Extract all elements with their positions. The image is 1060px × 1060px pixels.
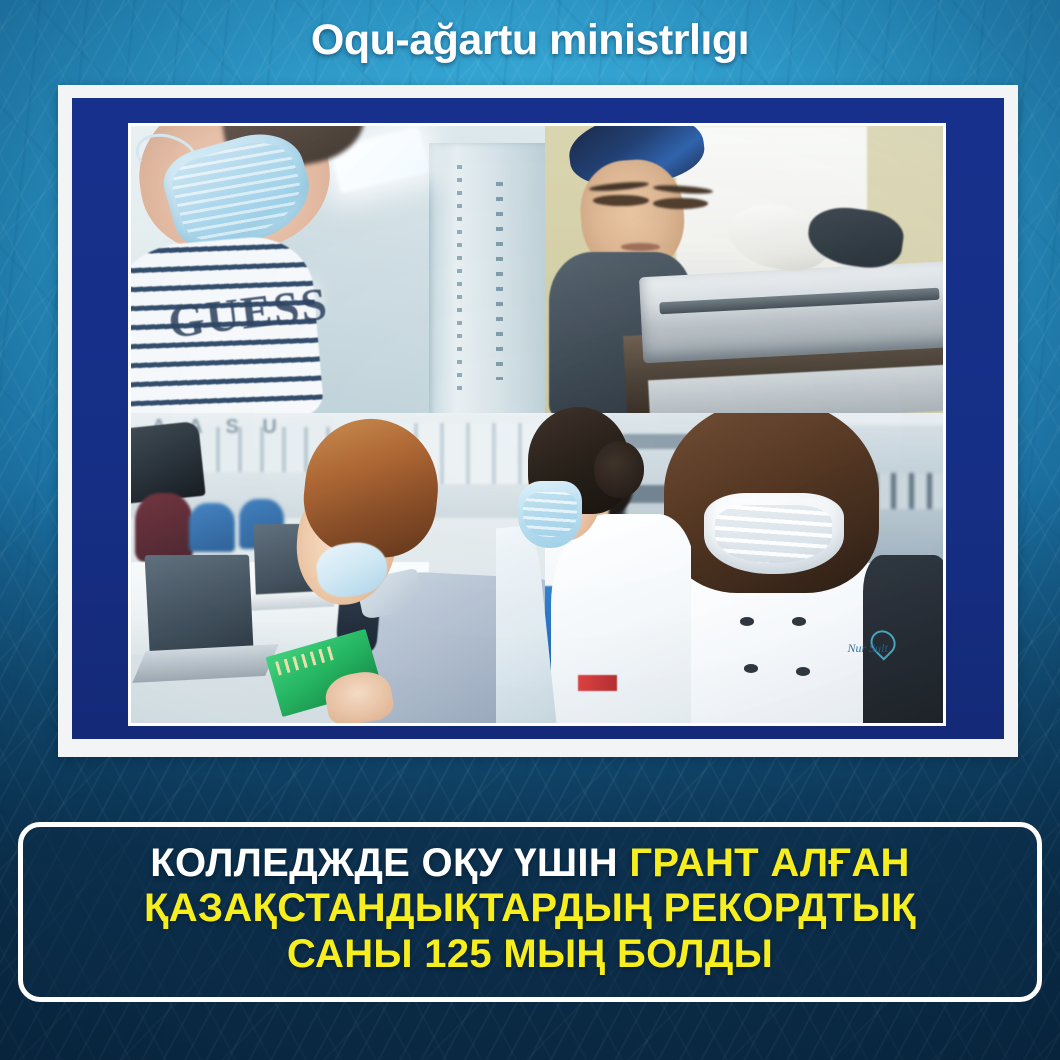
photo-scene-bottom-left: A A S U xyxy=(131,413,545,723)
photo-scene-top-left: GUESS xyxy=(131,126,545,413)
caption-line-1: КОЛЛЕДЖДЕ ОҚУ ҮШІН ГРАНТ АЛҒАН xyxy=(150,843,909,884)
foreground-shoulder xyxy=(496,524,558,723)
caption-line-1-yellow: ГРАНТ АЛҒАН xyxy=(629,841,909,885)
microscope-arm xyxy=(131,421,205,504)
engine-head xyxy=(639,261,943,363)
photo-collage: GUESS xyxy=(131,126,943,723)
jacket-button-4 xyxy=(796,667,810,676)
caption-line-2: ҚАЗАҚСТАНДЫҚТАРДЫҢ РЕКОРДТЫҚ xyxy=(144,888,916,929)
poster-root: Oqu-ağartu ministrlıgı xyxy=(0,0,1060,1060)
jacket-logo-text: Nur Sult xyxy=(847,642,911,682)
photo-frame-inner: GUESS xyxy=(72,98,1004,739)
jacket-button-3 xyxy=(744,664,758,673)
lab-cabinet xyxy=(429,143,545,412)
caption-panel: КОЛЛЕДЖДЕ ОҚУ ҮШІН ГРАНТ АЛҒАН ҚАЗАҚСТАН… xyxy=(18,822,1042,1002)
photo-scene-center xyxy=(496,401,691,723)
caption-line-3: САНЫ 125 МЫҢ БОЛДЫ xyxy=(287,934,773,975)
photo-scene-top-right xyxy=(545,126,943,413)
page-title: Oqu-ağartu ministrlıgı xyxy=(0,16,1060,65)
mouth xyxy=(621,243,661,250)
background-person-2 xyxy=(189,503,235,553)
eye-left xyxy=(593,195,649,206)
background-person-1 xyxy=(135,493,193,561)
center-woman-blue-mask xyxy=(518,481,582,548)
photo-frame-outer: GUESS xyxy=(58,85,1018,757)
woman-white-mask xyxy=(704,493,843,574)
hoodie-red-tag xyxy=(578,675,617,692)
white-hoodie xyxy=(551,514,691,723)
center-woman-hair-bun xyxy=(594,441,645,498)
laptop-keyboard xyxy=(133,645,279,684)
eye-right xyxy=(653,198,709,209)
caption-line-1-white: КОЛЛЕДЖДЕ ОҚУ ҮШІН xyxy=(150,841,618,885)
photo-mat: GUESS xyxy=(128,123,946,726)
